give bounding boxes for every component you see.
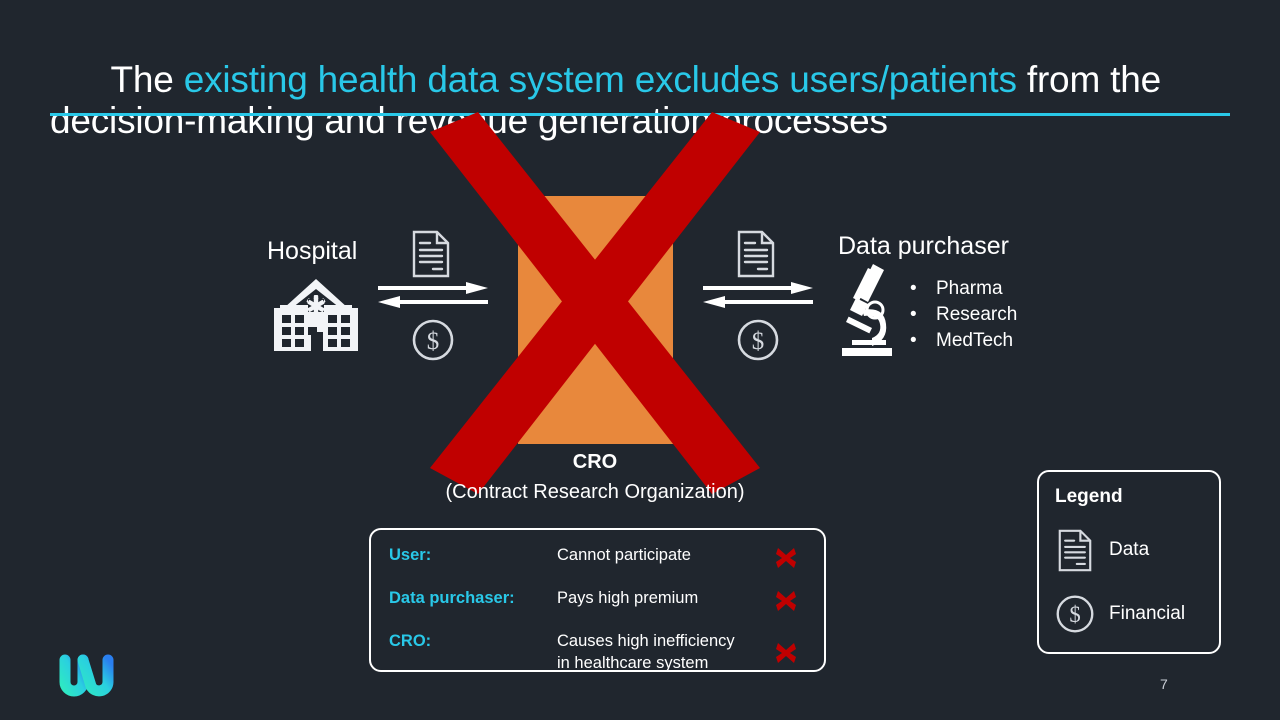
slide-canvas: The existing health data system excludes… [0,0,1280,720]
hospital-label: Hospital [267,237,357,266]
list-item-label: Pharma [936,276,1003,302]
dollar-coin-icon: $ [1055,592,1095,636]
info-row-key: Data purchaser: [389,587,557,609]
info-row-key: CRO: [389,630,557,652]
microscope-icon [832,258,898,358]
bullet-icon: • [910,276,916,302]
bullet-icon: • [910,302,916,328]
data-purchaser-label: Data purchaser [838,232,1009,261]
legend-box: Legend Data [1037,470,1221,654]
arrow-left-icon [703,296,813,308]
bidirectional-arrows [703,282,813,314]
list-item-label: MedTech [936,328,1013,354]
list-item: • Pharma [910,276,1017,302]
legend-title: Legend [1055,486,1219,508]
data-purchaser-list: • Pharma • Research • MedTech [910,276,1017,354]
legend-item-label: Data [1109,539,1149,561]
list-item: • Research [910,302,1017,328]
hospital-icon [270,277,362,353]
info-row-value: Pays high premium [557,587,766,609]
svg-text:$: $ [752,328,765,355]
info-row-cro: CRO: Causes high inefficiency in healthc… [389,630,806,674]
svg-text:$: $ [1069,602,1080,627]
legend-item-data: Data [1055,528,1219,572]
bullet-icon: • [910,328,916,354]
legend-item-label: Financial [1109,603,1185,625]
arrow-right-icon [703,282,813,294]
red-x-icon [766,544,806,571]
list-item-label: Research [936,302,1017,328]
document-icon [736,230,776,278]
red-x-icon [766,587,806,614]
info-row-value: Cannot participate [557,544,766,566]
dollar-coin-icon: $ [736,318,780,362]
w-logo [55,652,119,700]
summary-info-box: User: Cannot participate Data purchaser:… [369,528,826,672]
legend-item-financial: $ Financial [1055,592,1219,636]
info-row-key: User: [389,544,557,566]
document-icon [1055,528,1095,572]
info-row-data-purchaser: Data purchaser: Pays high premium [389,587,806,614]
info-row-user: User: Cannot participate [389,544,806,571]
cro-subtitle-label: (Contract Research Organization) [370,481,820,504]
red-x-icon [766,639,806,666]
list-item: • MedTech [910,328,1017,354]
info-row-value: Causes high inefficiency in healthcare s… [557,630,766,674]
page-number: 7 [1160,676,1168,692]
cro-name-label: CRO [420,451,770,474]
